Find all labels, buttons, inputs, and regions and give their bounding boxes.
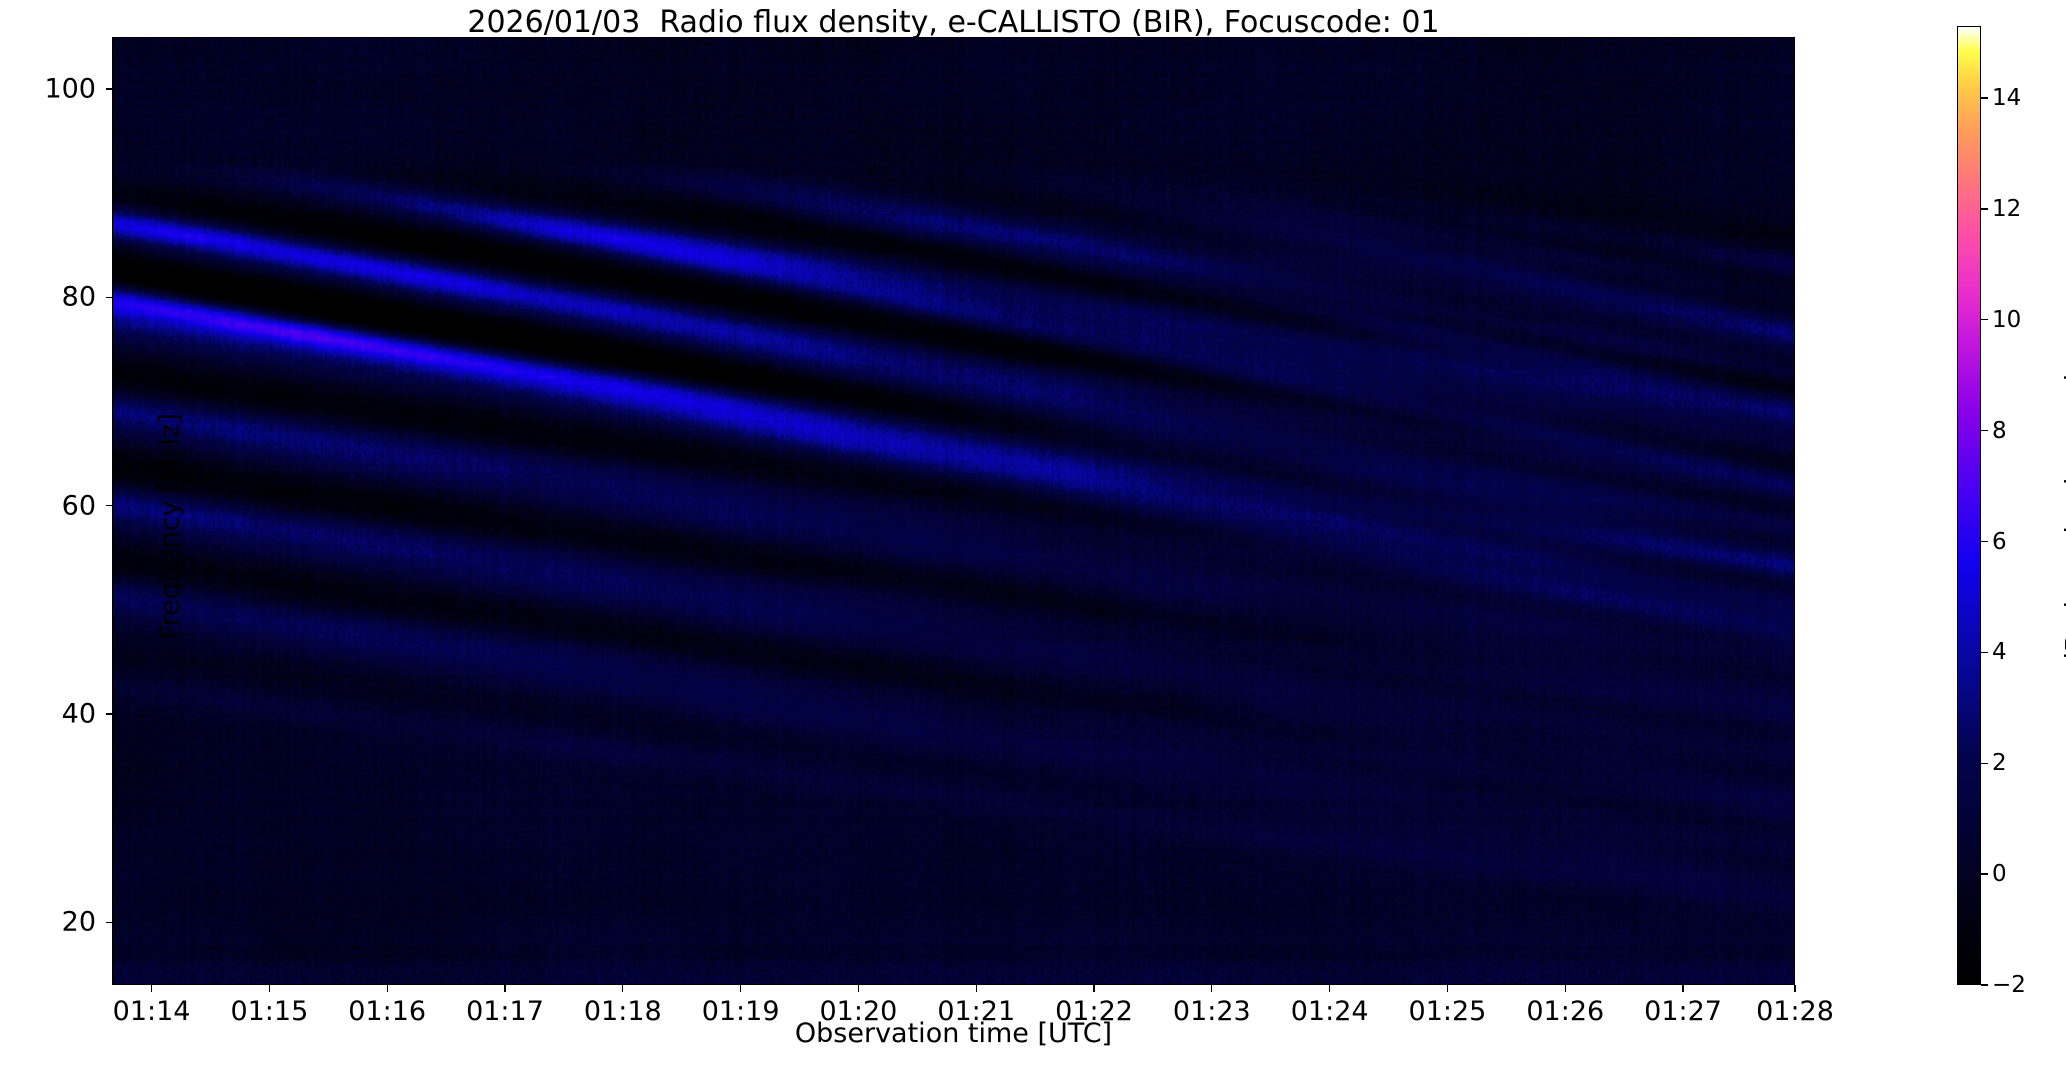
y-tick-label: 80: [0, 282, 96, 313]
x-tick-mark: [269, 985, 270, 992]
y-tick-label: 100: [0, 74, 96, 105]
colorbar-tick-label: −2: [1992, 972, 2026, 998]
x-tick-mark: [1682, 985, 1683, 992]
colorbar-tick-label: 14: [1992, 85, 2021, 111]
y-axis-label: Frequency [MHz]: [155, 327, 186, 727]
y-tick-mark: [106, 713, 113, 714]
x-tick-mark: [1329, 985, 1330, 992]
colorbar-tick-mark: [1981, 97, 1988, 98]
colorbar-tick-mark: [1981, 208, 1988, 209]
x-tick-mark: [1794, 985, 1795, 992]
colorbar-tick-mark: [1981, 763, 1988, 764]
x-tick-mark: [151, 985, 152, 992]
x-tick-mark: [1565, 985, 1566, 992]
colorbar-tick-label: 2: [1992, 750, 2007, 776]
colorbar-tick-label: 10: [1992, 307, 2021, 333]
colorbar-tick-label: 12: [1992, 196, 2021, 222]
colorbar-tick-mark: [1981, 984, 1988, 985]
colorbar-tick-mark: [1981, 430, 1988, 431]
y-tick-mark: [106, 88, 113, 89]
spectrogram-axes[interactable]: [112, 37, 1795, 985]
x-tick-mark: [1093, 985, 1094, 992]
x-tick-mark: [504, 985, 505, 992]
x-tick-mark: [858, 985, 859, 992]
x-tick-mark: [1211, 985, 1212, 992]
colorbar-tick-mark: [1981, 652, 1988, 653]
y-tick-mark: [106, 505, 113, 506]
figure-canvas: 2026/01/03 Radio flux density, e-CALLIST…: [0, 0, 2066, 1067]
y-tick-label: 40: [0, 699, 96, 730]
colorbar-tick-mark: [1981, 319, 1988, 320]
y-tick-label: 20: [0, 907, 96, 938]
colorbar-gradient: [1958, 27, 1980, 984]
colorbar-tick-label: 8: [1992, 418, 2007, 444]
y-tick-label: 60: [0, 490, 96, 521]
y-tick-mark: [106, 922, 113, 923]
x-tick-mark: [387, 985, 388, 992]
colorbar-tick-label: 6: [1992, 529, 2007, 555]
colorbar-tick-label: 0: [1992, 861, 2007, 887]
colorbar-tick-mark: [1981, 541, 1988, 542]
x-tick-mark: [976, 985, 977, 992]
colorbar-label: dB above background: [2061, 292, 2066, 752]
y-tick-mark: [106, 297, 113, 298]
spectrogram-image: [113, 38, 1794, 984]
colorbar[interactable]: [1957, 26, 1981, 985]
x-tick-mark: [740, 985, 741, 992]
colorbar-tick-mark: [1981, 873, 1988, 874]
x-tick-mark: [622, 985, 623, 992]
x-tick-mark: [1447, 985, 1448, 992]
colorbar-tick-label: 4: [1992, 639, 2007, 665]
x-tick-label: 01:28: [1715, 996, 1875, 1027]
